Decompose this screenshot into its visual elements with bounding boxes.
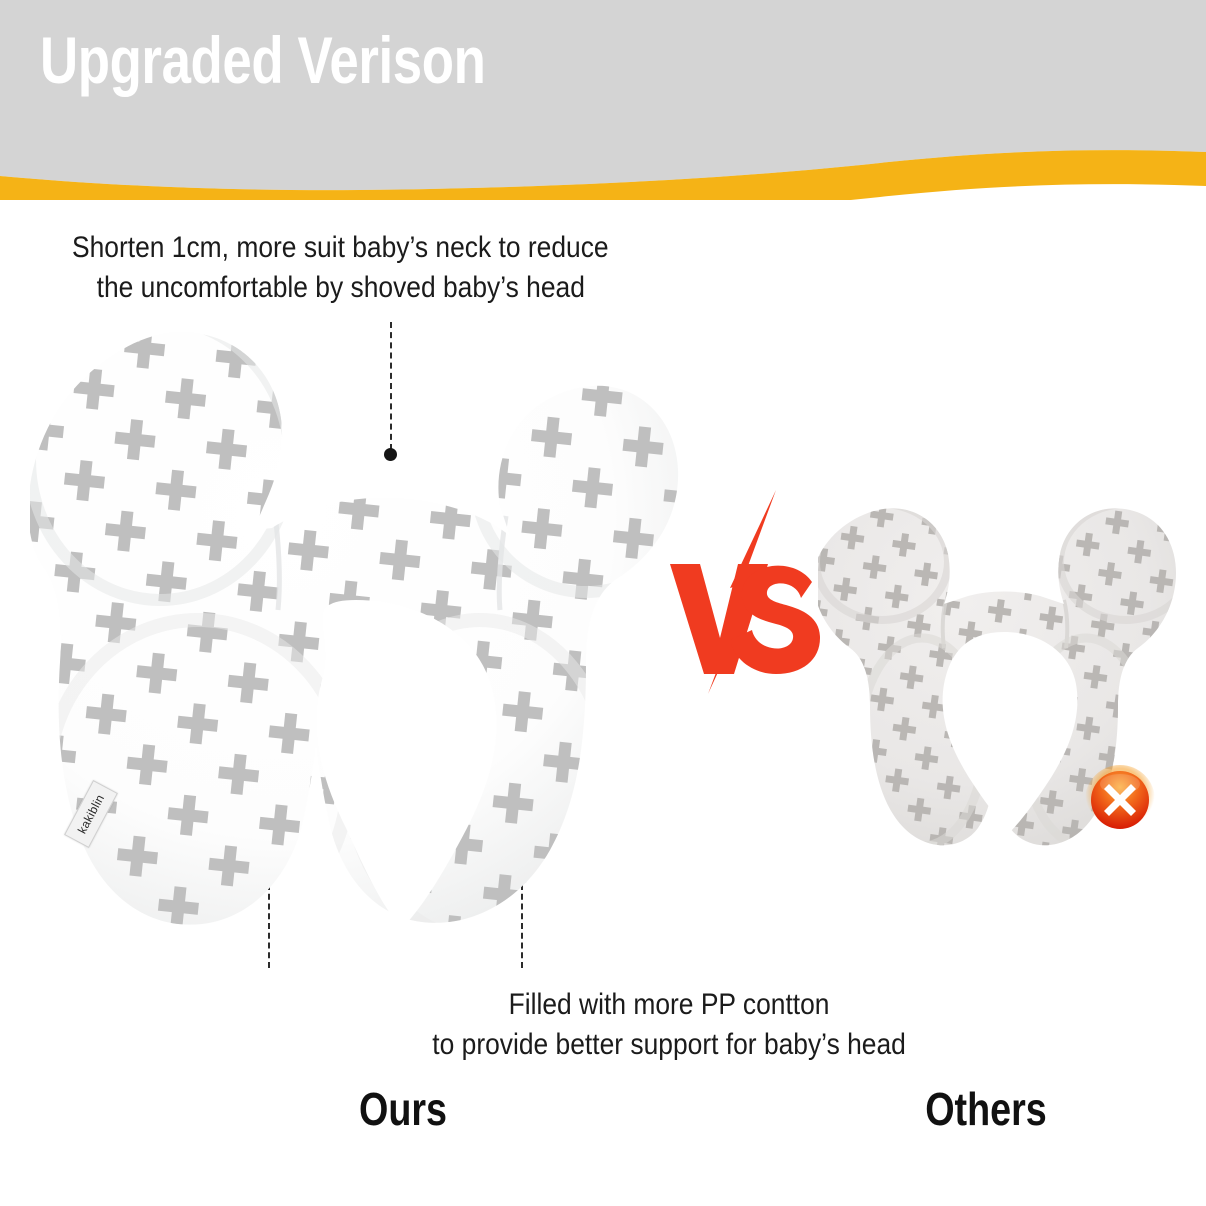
callout-bottom-line1: Filled with more PP contton xyxy=(432,985,906,1025)
label-others: Others xyxy=(904,1082,1068,1136)
callout-bottom-line2: to provide better support for baby’s hea… xyxy=(432,1025,906,1065)
callout-text-bottom: Filled with more PP contton to provide b… xyxy=(432,985,906,1065)
x-circle-icon xyxy=(1084,764,1156,836)
label-ours: Ours xyxy=(321,1082,485,1136)
callout-top-line1: Shorten 1cm, more suit baby’s neck to re… xyxy=(72,231,609,264)
callout-text-top: Shorten 1cm, more suit baby’s neck to re… xyxy=(72,228,609,308)
pillow-ours-shape xyxy=(30,310,690,950)
vs-badge-graphic xyxy=(664,486,824,698)
product-image-ours xyxy=(30,310,690,950)
page-title: Upgraded Verison xyxy=(40,26,485,95)
callout-top-line2: the uncomfortable by shoved baby’s head xyxy=(72,268,609,308)
vs-badge xyxy=(664,486,824,698)
reject-badge xyxy=(1084,764,1156,836)
infographic-page: Upgraded Verison Shorten 1cm, more suit … xyxy=(0,0,1206,1206)
pillow-ours-body xyxy=(30,310,690,950)
header-banner: Upgraded Verison xyxy=(0,0,1206,200)
